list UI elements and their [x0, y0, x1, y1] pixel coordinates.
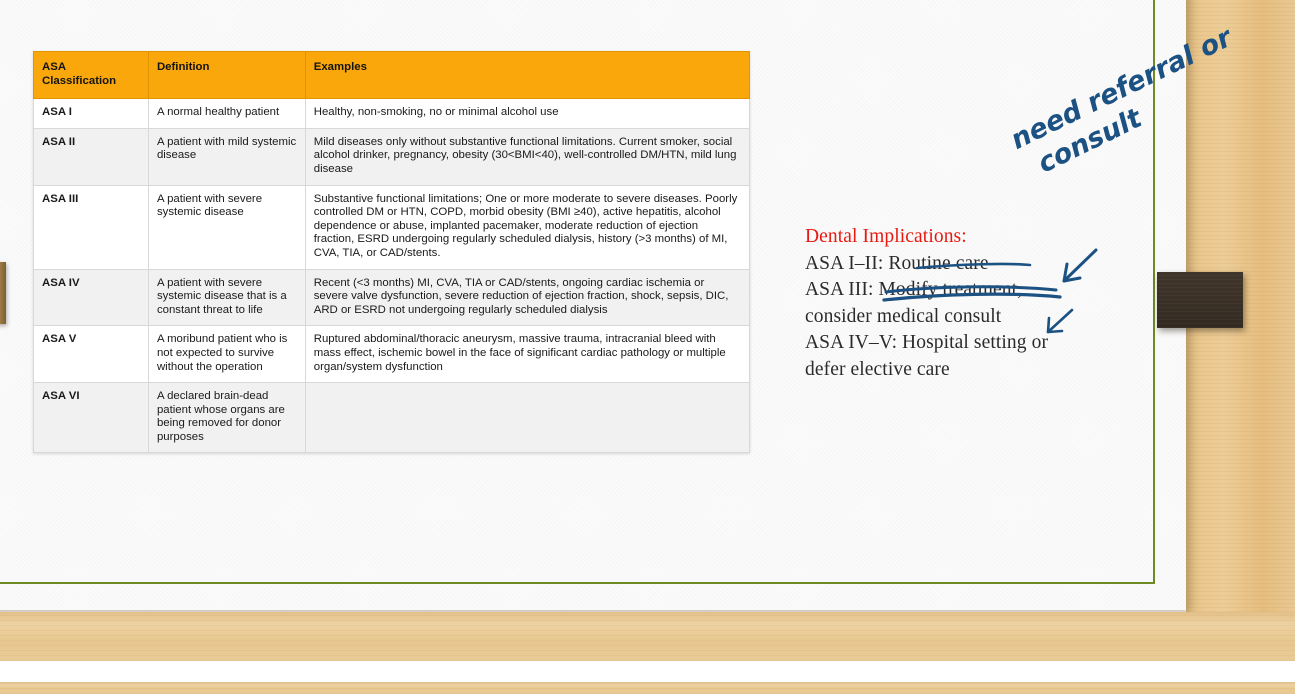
- cell-classification: ASA III: [34, 185, 149, 269]
- table-header: ASA Classification Definition Examples: [34, 52, 750, 99]
- slide-canvas: ASA Classification Definition Examples A…: [0, 0, 1295, 694]
- cell-examples: [305, 383, 749, 453]
- implication-line-asa-3: ASA III: Modify treatment,: [805, 277, 1115, 304]
- table-header-row: ASA Classification Definition Examples: [34, 52, 750, 99]
- table-body: ASA I A normal healthy patient Healthy, …: [34, 99, 750, 453]
- cell-definition: A moribund patient who is not expected t…: [148, 326, 305, 383]
- column-header-classification: ASA Classification: [34, 52, 149, 99]
- cell-definition: A patient with severe systemic disease: [148, 185, 305, 269]
- implication-line-asa-1-2: ASA I–II: Routine care: [805, 251, 1115, 278]
- cell-classification: ASA I: [34, 99, 149, 129]
- column-header-examples: Examples: [305, 52, 749, 99]
- cell-definition: A patient with mild systemic disease: [148, 128, 305, 185]
- asa-classification-table: ASA Classification Definition Examples A…: [33, 51, 750, 453]
- dental-implications-block: Dental Implications: ASA I–II: Routine c…: [805, 224, 1115, 383]
- cell-classification: ASA V: [34, 326, 149, 383]
- table-row: ASA V A moribund patient who is not expe…: [34, 326, 750, 383]
- cell-examples: Ruptured abdominal/thoracic aneurysm, ma…: [305, 326, 749, 383]
- cell-examples: Recent (<3 months) MI, CVA, TIA or CAD/s…: [305, 269, 749, 326]
- column-header-definition: Definition: [148, 52, 305, 99]
- cell-definition: A patient with severe systemic disease t…: [148, 269, 305, 326]
- cell-definition: A normal healthy patient: [148, 99, 305, 129]
- wood-band-primary: [0, 612, 1295, 661]
- table-row: ASA I A normal healthy patient Healthy, …: [34, 99, 750, 129]
- cell-examples: Healthy, non-smoking, no or minimal alco…: [305, 99, 749, 129]
- cell-examples: Substantive functional limitations; One …: [305, 185, 749, 269]
- left-edge-tab: [0, 262, 6, 324]
- table-row: ASA VI A declared brain-dead patient who…: [34, 383, 750, 453]
- table-row: ASA II A patient with mild systemic dise…: [34, 128, 750, 185]
- cell-definition: A declared brain-dead patient whose orga…: [148, 383, 305, 453]
- right-edge-tab: [1157, 272, 1243, 328]
- implication-line-asa-4-5-cont: defer elective care: [805, 357, 1115, 384]
- implication-line-asa-3-cont: consider medical consult: [805, 304, 1115, 331]
- cell-classification: ASA II: [34, 128, 149, 185]
- table-row: ASA III A patient with severe systemic d…: [34, 185, 750, 269]
- cell-classification: ASA IV: [34, 269, 149, 326]
- wood-band-secondary: [0, 682, 1295, 694]
- implication-line-asa-4-5: ASA IV–V: Hospital setting or: [805, 330, 1115, 357]
- cell-classification: ASA VI: [34, 383, 149, 453]
- dental-implications-title: Dental Implications:: [805, 224, 1115, 251]
- paper-green-rule-horizontal: [0, 582, 1155, 584]
- cell-examples: Mild diseases only without substantive f…: [305, 128, 749, 185]
- table-row: ASA IV A patient with severe systemic di…: [34, 269, 750, 326]
